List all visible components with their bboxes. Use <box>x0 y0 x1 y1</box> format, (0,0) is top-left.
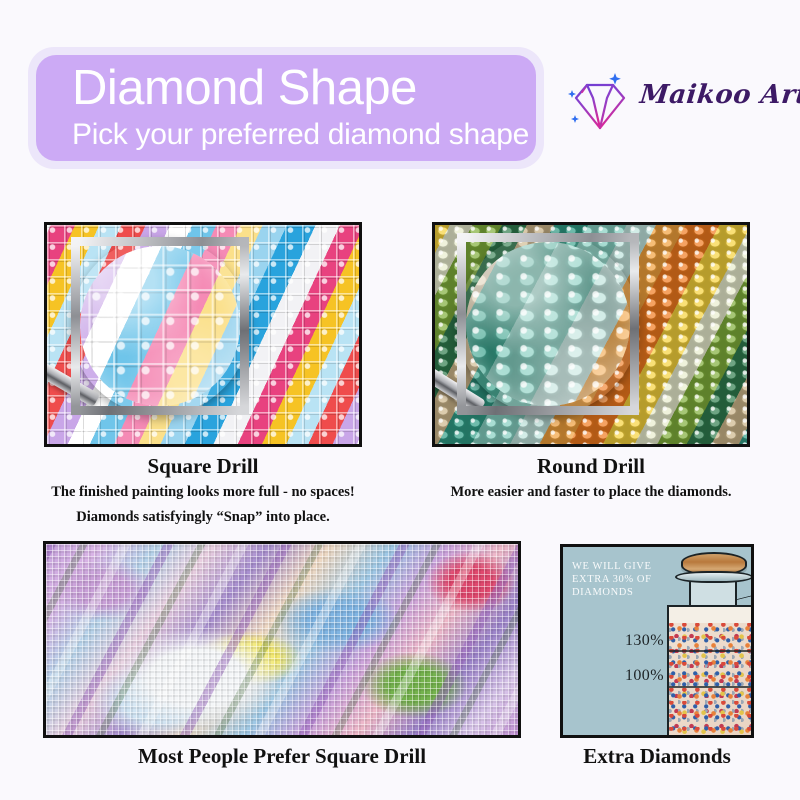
square-drill-image <box>44 222 362 447</box>
jar-level-130-line <box>669 650 751 652</box>
promo-page: Diamond Shape Pick your preferred diamon… <box>0 0 800 800</box>
jar-diamond-fill <box>669 623 751 735</box>
brand-logo: Maikoo Art <box>562 68 792 138</box>
extra-diamonds-image: WE WILL GIVE EXTRA 30% OF DIAMONDS 130% … <box>560 544 754 738</box>
extra-diamonds-title: Extra Diamonds <box>560 742 754 770</box>
jar-level-100-label: 100% <box>625 667 664 685</box>
dolphin-bead-grid <box>46 544 518 735</box>
square-drill-caption: Square Drill The finished painting looks… <box>14 452 392 530</box>
most-people-caption: Most People Prefer Square Drill <box>43 742 521 770</box>
magnifier-square <box>71 237 271 437</box>
extra-diamonds-caption: Extra Diamonds <box>560 742 754 770</box>
diamond-gem-icon <box>562 68 638 138</box>
magnifier-round <box>457 233 657 433</box>
magnifier-lens <box>71 237 249 415</box>
header-banner: Diamond Shape Pick your preferred diamon… <box>36 55 536 161</box>
page-subtitle: Pick your preferred diamond shape <box>72 115 529 155</box>
square-drill-line-2: Diamonds satisfyingly “Snap” into place. <box>14 505 392 530</box>
round-drill-title: Round Drill <box>400 452 782 480</box>
square-drill-line-1: The finished painting looks more full - … <box>14 480 392 505</box>
jar-lid-rim <box>675 571 751 583</box>
page-title: Diamond Shape <box>72 57 417 119</box>
jar-promo-text: WE WILL GIVE EXTRA 30% OF DIAMONDS <box>572 560 676 599</box>
most-people-image <box>43 541 521 738</box>
round-drill-image <box>432 222 750 447</box>
jar-level-100-line <box>669 686 751 688</box>
magnifier-lens <box>457 233 639 415</box>
round-drill-line-1: More easier and faster to place the diam… <box>400 480 782 505</box>
most-people-title: Most People Prefer Square Drill <box>43 742 521 770</box>
jar-level-130-label: 130% <box>625 632 664 650</box>
brand-name: Maikoo Art <box>638 80 800 110</box>
jar-body <box>667 605 751 735</box>
page-header: Diamond Shape Pick your preferred diamon… <box>0 0 800 195</box>
square-drill-title: Square Drill <box>14 452 392 480</box>
round-drill-caption: Round Drill More easier and faster to pl… <box>400 452 782 505</box>
